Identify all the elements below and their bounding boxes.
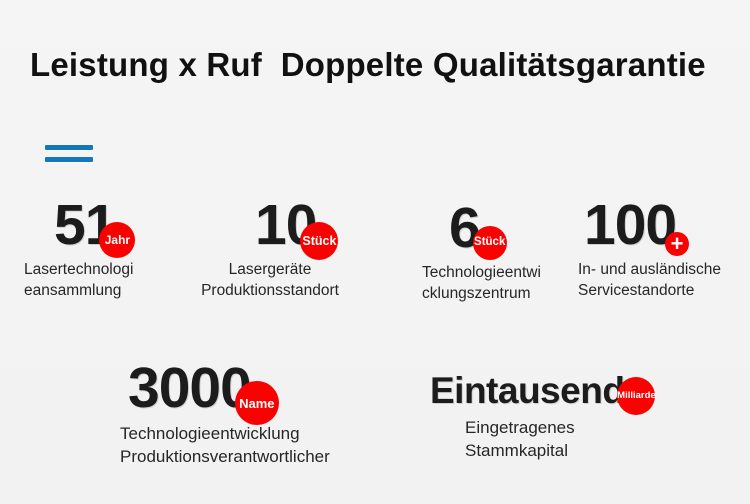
stat-block-lasergeraete: 10 Stück Lasergeräte Produktionsstandort (249, 197, 389, 302)
stat-number: 3000 (128, 360, 251, 417)
stat-badge-jahr: Jahr (99, 222, 135, 258)
stat-number: 100 (584, 197, 676, 254)
stat-figure: 10 Stück (255, 197, 316, 254)
blue-double-rule (45, 145, 95, 162)
stat-block-verantwortlicher: 3000 Name Technologieentwicklung Produkt… (120, 360, 420, 469)
stat-figure: 100 + (584, 197, 676, 254)
stat-figure: 51 Jahr (54, 197, 115, 254)
stat-label: Technologieentwi cklungszentrum (422, 263, 574, 305)
stat-label: Eingetragenes Stammkapital (465, 417, 730, 463)
stat-figure: 3000 Name (128, 360, 251, 417)
stat-label: Lasergeräte Produktionsstandort (151, 260, 389, 302)
plus-icon: + (665, 232, 689, 256)
stat-figure: 6 Stück (449, 200, 480, 257)
page-title: Leistung x Ruf Doppelte Qualitätsgaranti… (30, 46, 706, 84)
stat-figure: Eintausend Milliarde (430, 372, 624, 409)
stat-badge-milliarde: Milliarde (617, 377, 655, 415)
stat-badge-name: Name (235, 381, 279, 425)
stat-block-technologiezentrum: 6 Stück Technologieentwi cklungszentrum (424, 200, 574, 305)
infographic-page: Leistung x Ruf Doppelte Qualitätsgaranti… (0, 0, 750, 504)
stat-badge-stueck: Stück (300, 222, 338, 260)
rule-bar-bottom (45, 157, 93, 162)
stat-block-servicestandorte: 100 + In- und ausländische Servicestando… (578, 197, 750, 302)
stat-badge-stueck: Stück (473, 226, 507, 260)
stat-block-stammkapital: Eintausend Milliarde Eingetragenes Stamm… (430, 372, 730, 463)
rule-bar-top (45, 145, 93, 150)
stat-label: In- und ausländische Servicestandorte (578, 260, 750, 302)
stat-label: Technologieentwicklung Produktionsverant… (120, 423, 420, 469)
stat-number: Eintausend (430, 372, 624, 409)
